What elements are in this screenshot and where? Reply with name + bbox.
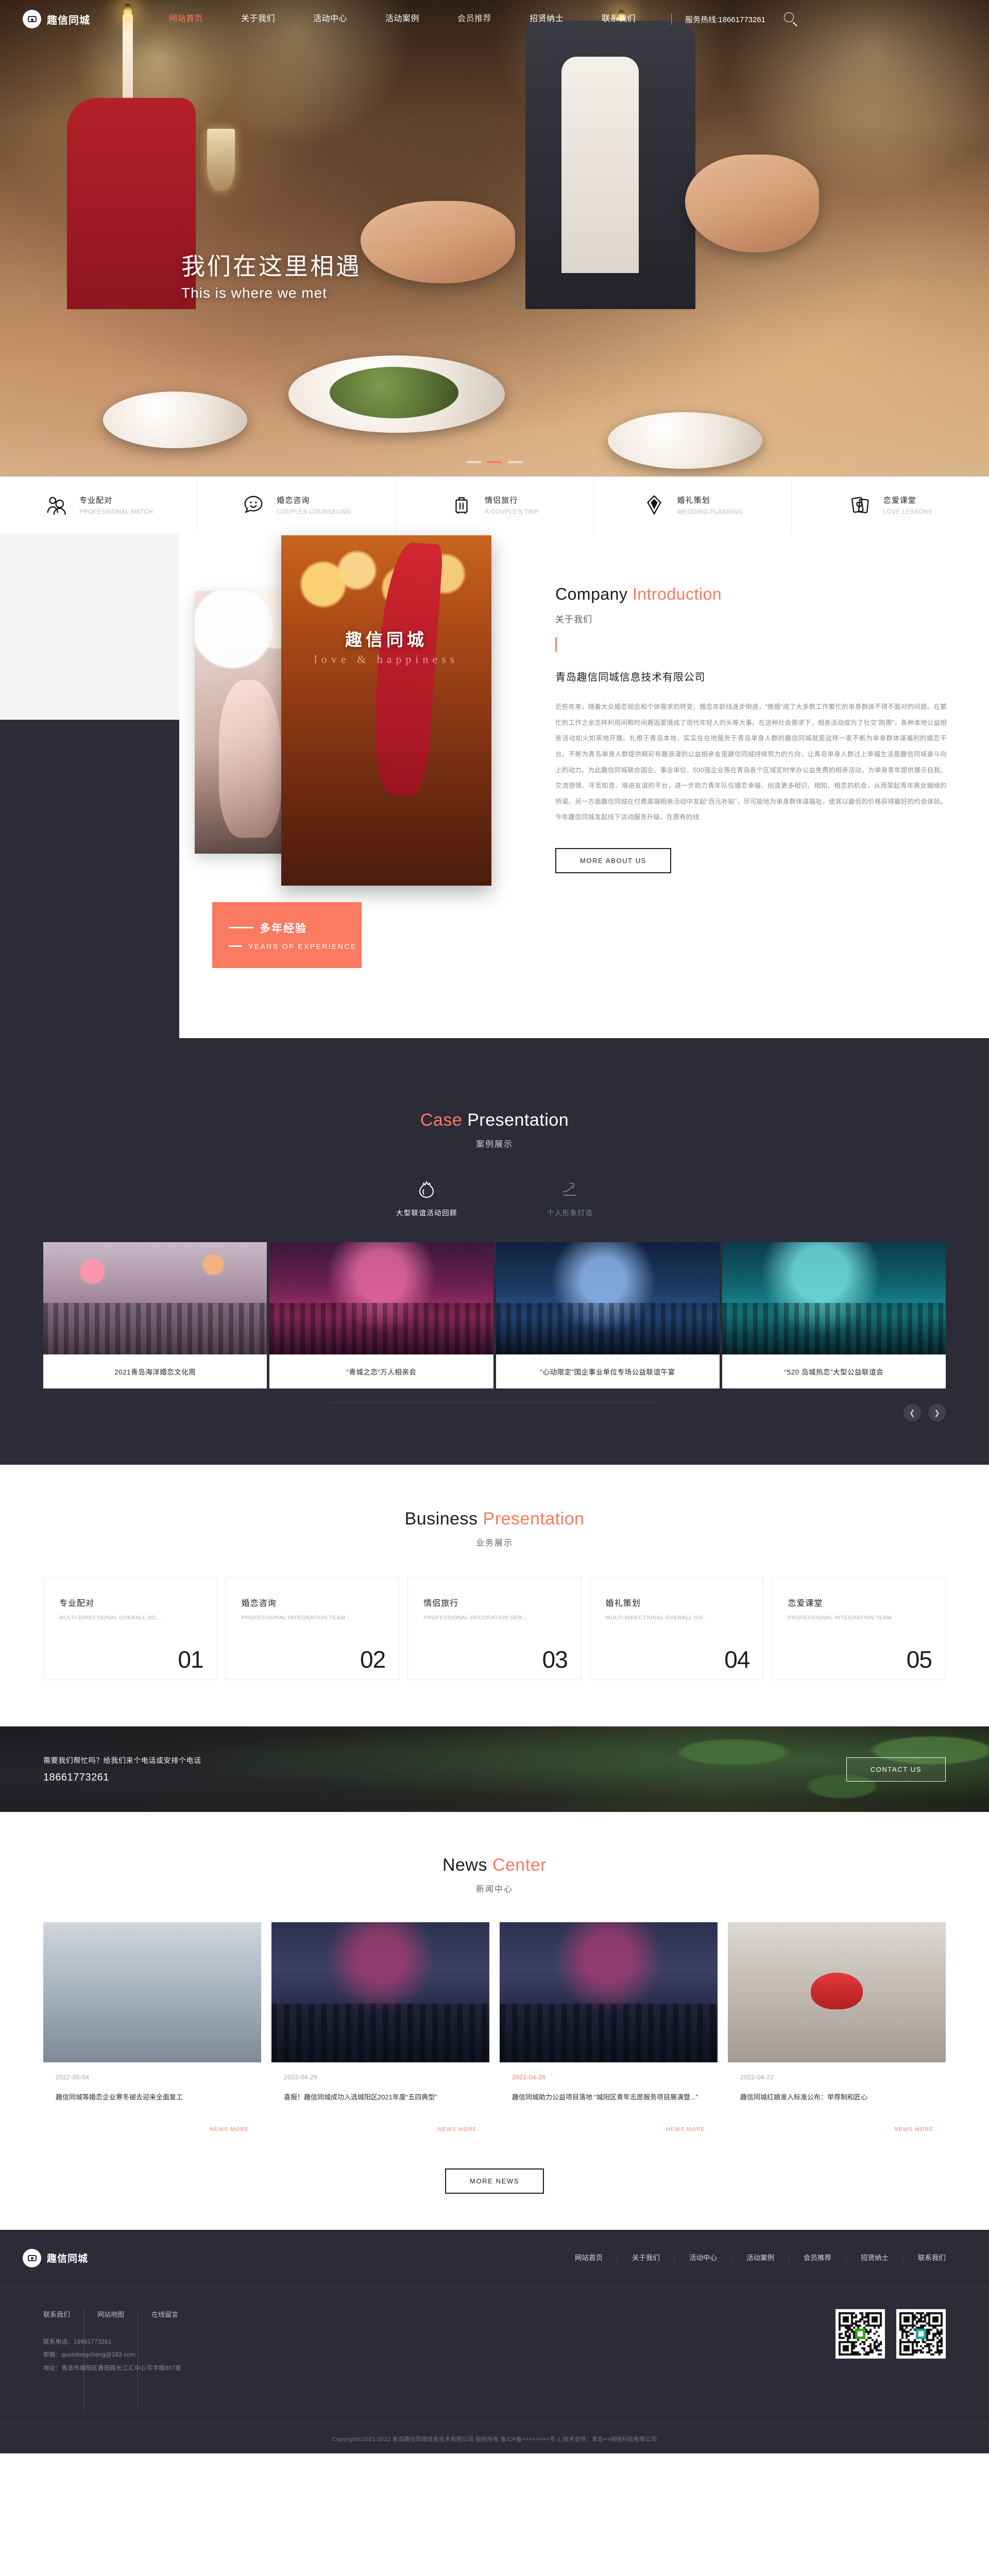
- about-company-name: 青岛趣信同城信息技术有限公司: [555, 669, 947, 684]
- business-card-title: 恋爱课堂: [788, 1596, 930, 1608]
- footer-nav: 网站首页 关于我们 活动中心 活动案例 会员推荐 招贤纳士 联系我们: [560, 2254, 946, 2262]
- news-card[interactable]: 2022-05-04 趣信同城等婚恋企业寒冬褪去迎来全面复工 NEWS MORE: [43, 1922, 261, 2142]
- news-card[interactable]: 2022-04-26 趣信同城助力公益项目落地 “城阳区青年志愿服务项目展演暨.…: [500, 1922, 718, 2142]
- case-presentation-section: Case Presentation 案例展示 大型联谊活动回顾: [0, 1067, 989, 1465]
- news-title: 趣信同城助力公益项目落地 “城阳区青年志愿服务项目展演暨...”: [512, 2091, 705, 2117]
- news-thumbnail: [728, 1922, 946, 2062]
- food-decor: [330, 367, 458, 418]
- nav-item-cases[interactable]: 活动案例: [366, 0, 438, 38]
- plate-decor-3: [103, 392, 247, 448]
- news-thumbnail: [271, 1922, 489, 2062]
- footer-nav-careers[interactable]: 招贤纳士: [846, 2254, 903, 2262]
- case-tabs: 大型联谊活动回顾 个人形象打造: [0, 1172, 989, 1217]
- growth-arrow-icon: [560, 1179, 581, 1200]
- footer-copyright-bar: Copyright©2021-2022 青岛趣信同城信息技术有限公司 版权所有 …: [0, 2424, 989, 2453]
- about-heading-en-b: Introduction: [633, 585, 722, 603]
- service-label-en: COUPLES COUNSELING: [277, 509, 351, 515]
- case-card[interactable]: “520 岛城热恋”大型公益联谊会: [722, 1242, 946, 1388]
- about-photo-sunset: 趣信同城 love & happiness: [281, 535, 491, 886]
- about-body-text: 近些年来，随着大众婚恋观念和个体需求的转变，婚恋年龄线逐步倒退，“晚婚”成了大多…: [555, 699, 947, 825]
- news-card[interactable]: 2022-04-29 喜报！趣信同城成功入选城阳区2021年度“五四典型” NE…: [271, 1922, 489, 2142]
- case-tab-label: 大型联谊活动回顾: [396, 1207, 457, 1217]
- news-card[interactable]: 2022-04-22 趣信同城红娘准入标准公布：举荐制和匠心 NEWS MORE: [728, 1922, 946, 2142]
- news-title: 趣信同城等婚恋企业寒冬褪去迎来全面复工: [56, 2091, 249, 2117]
- news-heading: News Center 新闻中心: [0, 1855, 989, 1894]
- nav-item-members[interactable]: 会员推荐: [438, 0, 510, 38]
- service-label-cn: 婚恋咨询: [277, 495, 351, 505]
- news-heading-cn: 新闻中心: [0, 1882, 989, 1894]
- business-card[interactable]: 婚礼策划 MULTI-DIRECTIONAL OVERALL SO... 04: [590, 1577, 764, 1680]
- nav-item-activity-center[interactable]: 活动中心: [294, 0, 366, 38]
- hotline-text: 服务热线:18661773261: [685, 14, 765, 25]
- hero-dot-1[interactable]: [467, 461, 481, 463]
- person-dress-decor: [67, 98, 196, 309]
- business-card-number: 02: [360, 1646, 385, 1673]
- news-date: 2022-04-26: [512, 2074, 705, 2081]
- service-highlights-bar: 专业配对 PROFESSIONAL MATCH 婚恋咨询 COUPLES COU…: [0, 477, 989, 533]
- love-cards-icon: [848, 493, 872, 517]
- badge-label-cn: 多年经验: [260, 920, 307, 936]
- about-photo-figure-decor: [369, 540, 444, 796]
- news-card-grid: 2022-05-04 趣信同城等婚恋企业寒冬褪去迎来全面复工 NEWS MORE…: [0, 1922, 989, 2142]
- business-card-title: 婚礼策划: [606, 1596, 748, 1608]
- header-divider: [671, 13, 672, 25]
- news-more-link[interactable]: NEWS MORE: [284, 2126, 477, 2142]
- service-label-cn: 婚礼策划: [677, 495, 743, 505]
- page-root: 趣信同城 网站首页 关于我们 活动中心 活动案例 会员推荐 招贤纳士 联系我们 …: [0, 0, 989, 2453]
- case-card[interactable]: 2021青岛海洋婚恋文化周: [43, 1242, 267, 1388]
- footer-contact-info: 联系电话：18661773261 邮箱：quxintongcheng@163.c…: [43, 2336, 181, 2375]
- cases-heading-cn: 案例展示: [0, 1137, 989, 1149]
- business-card-title: 专业配对: [59, 1596, 201, 1608]
- business-card-subtitle: PROFESSIONAL INTEGRATION TEAM: [788, 1615, 930, 1621]
- about-photo-overlay-cn: 趣信同城: [281, 626, 491, 651]
- footer-qr-codes: [835, 2309, 946, 2410]
- news-date: 2022-05-04: [56, 2074, 249, 2081]
- case-card[interactable]: “青城之恋”万人相亲会: [269, 1242, 493, 1388]
- camera-lens-icon: [23, 10, 41, 28]
- site-logo[interactable]: 趣信同城: [23, 10, 90, 28]
- footer-nav-cases[interactable]: 活动案例: [732, 2254, 789, 2262]
- diamond-icon: [642, 493, 666, 517]
- business-card-number: 03: [542, 1646, 568, 1673]
- business-heading-cn: 业务展示: [0, 1536, 989, 1548]
- footer-nav-members[interactable]: 会员推荐: [789, 2254, 846, 2262]
- about-accent-rule: [555, 637, 557, 652]
- hero-banner: 趣信同城 网站首页 关于我们 活动中心 活动案例 会员推荐 招贤纳士 联系我们 …: [0, 0, 989, 477]
- suitcase-icon: [450, 493, 473, 517]
- footer-address: 地址：青岛市城阳区春阳路长江汇中心写字楼807室: [43, 2362, 181, 2375]
- cta-phone: 18661773261: [43, 1772, 201, 1784]
- news-date: 2022-04-29: [284, 2074, 477, 2081]
- service-label-cn: 情侣旅行: [485, 495, 539, 505]
- business-card[interactable]: 恋爱课堂 PROFESSIONAL INTEGRATION TEAM 05: [772, 1577, 946, 1680]
- service-item-wedding-planning[interactable]: 婚礼策划 WEDDING PLANNING: [594, 477, 792, 533]
- about-heading-en: Company Introduction: [555, 585, 947, 604]
- business-heading-en-b: Presentation: [483, 1509, 585, 1529]
- footer-logo[interactable]: 趣信同城: [23, 2249, 88, 2267]
- header-hotline: 服务热线:18661773261: [671, 13, 765, 25]
- business-card[interactable]: 情侣旅行 PROFESSIONAL DECORATION SER... 03: [407, 1577, 582, 1680]
- business-card-subtitle: MULTI-DIRECTIONAL OVERALL SO...: [606, 1615, 748, 1621]
- footer-nav-home[interactable]: 网站首页: [560, 2254, 618, 2262]
- news-center-section: News Center 新闻中心 2022-05-04 趣信同城等婚恋企业寒冬褪…: [0, 1812, 989, 2230]
- cta-line: 需要我们帮忙吗？给我们来个电话或安排个电话: [43, 1755, 201, 1766]
- case-thumbnail: [722, 1242, 946, 1354]
- business-presentation-section: Business Presentation 业务展示 专业配对 MULTI-DI…: [0, 1465, 989, 1726]
- about-heading-cn: 关于我们: [555, 612, 947, 625]
- case-title: “青城之恋”万人相亲会: [269, 1354, 493, 1388]
- business-card[interactable]: 婚恋咨询 PROFESSIONAL INTEGRATION TEAM 02: [226, 1577, 400, 1680]
- hero-dot-3[interactable]: [508, 461, 522, 463]
- case-card-grid: 2021青岛海洋婚恋文化周 “青城之恋”万人相亲会 “心动限定”国企事业单位专场…: [0, 1242, 989, 1388]
- case-thumbnail: [496, 1242, 720, 1354]
- case-title: “520 岛城热恋”大型公益联谊会: [722, 1354, 946, 1388]
- case-carousel-nav: ❮ ❯: [0, 1388, 989, 1421]
- footer-nav-activity[interactable]: 活动中心: [675, 2254, 732, 2262]
- case-thumbnail: [43, 1242, 267, 1354]
- footer-nav-about[interactable]: 关于我们: [618, 2254, 675, 2262]
- chevron-right-icon[interactable]: ❯: [928, 1404, 946, 1421]
- cases-heading-en-b: Presentation: [467, 1110, 569, 1130]
- case-card[interactable]: “心动限定”国企事业单位专场公益联谊午宴: [496, 1242, 720, 1388]
- more-about-us-button[interactable]: MORE ABOUT US: [555, 848, 671, 873]
- news-more-wrap: MORE NEWS: [0, 2168, 989, 2194]
- cases-heading: Case Presentation 案例展示: [0, 1110, 989, 1149]
- business-card[interactable]: 专业配对 MULTI-DIRECTIONAL OVERALL SO... 01: [43, 1577, 217, 1680]
- qr-code-wechat: [835, 2309, 885, 2359]
- site-header: 趣信同城 网站首页 关于我们 活动中心 活动案例 会员推荐 招贤纳士 联系我们 …: [0, 0, 989, 38]
- business-card-title: 婚恋咨询: [242, 1596, 384, 1608]
- service-item-couples-counseling[interactable]: 婚恋咨询 COUPLES COUNSELING: [198, 477, 396, 533]
- footer-brand-name: 趣信同城: [47, 2251, 88, 2265]
- business-card-number: 01: [178, 1646, 203, 1673]
- wine-glass-decor: [207, 129, 235, 191]
- years-of-experience-badge: 多年经验 YEARS OF EXPERIENCE: [212, 902, 362, 968]
- footer-middle: 联系我们 网站地图 在线留言 联系电话：18661773261 邮箱：quxin…: [0, 2286, 989, 2410]
- about-copy: Company Introduction 关于我们 青岛趣信同城信息技术有限公司…: [555, 585, 947, 873]
- news-heading-en-b: Center: [492, 1855, 547, 1875]
- service-label-en: WEDDING PLANNING: [677, 509, 743, 515]
- case-tab-label: 个人形象打造: [547, 1207, 593, 1217]
- about-heading-en-a: Company: [555, 585, 627, 603]
- two-people-icon: [44, 493, 68, 517]
- more-news-button[interactable]: MORE NEWS: [445, 2168, 544, 2194]
- flame-icon: [416, 1179, 437, 1200]
- plate-decor-2: [608, 412, 762, 469]
- nav-item-home[interactable]: 网站首页: [150, 0, 222, 38]
- news-thumbnail: [500, 1922, 718, 2062]
- news-more-link[interactable]: NEWS MORE: [740, 2126, 933, 2142]
- hero-title-en: This is where we met: [181, 285, 362, 301]
- footer-email: 邮箱：quxintongcheng@163.com: [43, 2349, 181, 2362]
- hero-title-cn: 我们在这里相遇: [181, 252, 362, 282]
- business-heading-en-a: Business: [405, 1509, 478, 1529]
- news-title: 趣信同城红娘准入标准公布：举荐制和匠心: [740, 2091, 933, 2117]
- cta-text: 需要我们帮忙吗？给我们来个电话或安排个电话 18661773261: [43, 1755, 201, 1784]
- business-card-grid: 专业配对 MULTI-DIRECTIONAL OVERALL SO... 01 …: [0, 1577, 989, 1680]
- service-item-love-lessons[interactable]: 恋爱课堂 LOVE LESSONS: [792, 477, 989, 533]
- case-title: “心动限定”国企事业单位专场公益联谊午宴: [496, 1354, 720, 1388]
- hero-slider-dots: [0, 461, 989, 463]
- hero-dot-2[interactable]: [487, 461, 502, 463]
- business-card-number: 05: [907, 1646, 932, 1673]
- service-item-professional-match[interactable]: 专业配对 PROFESSIONAL MATCH: [0, 477, 198, 533]
- person-shirt-decor: [561, 57, 639, 273]
- nav-item-careers[interactable]: 招贤纳士: [510, 0, 583, 38]
- nav-item-about[interactable]: 关于我们: [222, 0, 294, 38]
- footer-phone: 联系电话：18661773261: [43, 2336, 181, 2349]
- brand-name: 趣信同城: [47, 12, 90, 27]
- business-card-subtitle: PROFESSIONAL DECORATION SER...: [423, 1615, 566, 1621]
- nav-item-contact[interactable]: 联系我们: [583, 0, 655, 38]
- news-more-link[interactable]: NEWS MORE: [512, 2126, 705, 2142]
- case-tab-personal-image[interactable]: 个人形象打造: [547, 1172, 593, 1217]
- service-label-en: A COUPLE'S TRIP: [485, 509, 539, 515]
- footer-top: 趣信同城 网站首页 关于我们 活动中心 活动案例 会员推荐 招贤纳士 联系我们: [0, 2230, 989, 2286]
- business-card-title: 情侣旅行: [423, 1596, 566, 1608]
- about-section: 趣信同城 love & happiness 多年经验 YEARS OF EXPE…: [0, 533, 989, 1067]
- news-heading-en-a: News: [442, 1855, 487, 1875]
- camera-lens-icon: [23, 2249, 41, 2267]
- business-card-subtitle: MULTI-DIRECTIONAL OVERALL SO...: [59, 1615, 201, 1621]
- business-heading: Business Presentation 业务展示: [0, 1509, 989, 1548]
- case-title: 2021青岛海洋婚恋文化周: [43, 1354, 267, 1388]
- news-thumbnail: [43, 1922, 261, 2062]
- chevron-left-icon[interactable]: ❮: [903, 1404, 921, 1421]
- chat-smile-icon: [242, 493, 265, 517]
- service-label-cn: 恋爱课堂: [883, 495, 932, 505]
- qr-code-douyin: [896, 2309, 946, 2359]
- service-label-en: PROFESSIONAL MATCH: [79, 509, 153, 515]
- contact-us-button[interactable]: CONTACT US: [846, 1757, 946, 1782]
- cases-heading-en-a: Case: [420, 1110, 462, 1130]
- copyright-text: Copyright©2021-2022 青岛趣信同城信息技术有限公司 版权所有 …: [332, 2435, 657, 2443]
- search-icon[interactable]: [783, 11, 798, 27]
- case-thumbnail: [269, 1242, 493, 1354]
- badge-label-en: YEARS OF EXPERIENCE: [248, 942, 357, 951]
- news-title: 喜报！趣信同城成功入选城阳区2021年度“五四典型”: [284, 2091, 477, 2117]
- hero-caption: 我们在这里相遇 This is where we met: [181, 252, 362, 301]
- news-more-link[interactable]: NEWS MORE: [56, 2126, 249, 2142]
- news-date: 2022-04-22: [740, 2074, 933, 2081]
- site-footer: 趣信同城 网站首页 关于我们 活动中心 活动案例 会员推荐 招贤纳士 联系我们 …: [0, 2230, 989, 2453]
- service-label-cn: 专业配对: [79, 495, 153, 505]
- business-card-subtitle: PROFESSIONAL INTEGRATION TEAM: [242, 1615, 384, 1621]
- case-divider: [330, 1402, 659, 1403]
- footer-nav-contact[interactable]: 联系我们: [903, 2254, 946, 2262]
- business-card-number: 04: [724, 1646, 749, 1673]
- case-tab-large-events[interactable]: 大型联谊活动回顾: [396, 1172, 457, 1217]
- service-label-en: LOVE LESSONS: [883, 509, 932, 515]
- service-item-couples-trip[interactable]: 情侣旅行 A COUPLE'S TRIP: [396, 477, 593, 533]
- primary-nav: 网站首页 关于我们 活动中心 活动案例 会员推荐 招贤纳士 联系我们: [150, 0, 655, 38]
- contact-cta-banner: 需要我们帮忙吗？给我们来个电话或安排个电话 18661773261 CONTAC…: [0, 1726, 989, 1812]
- about-photo-collage: 趣信同城 love & happiness 多年经验 YEARS OF EXPE…: [195, 591, 535, 1003]
- about-photo-overlay-en: love & happiness: [281, 653, 491, 666]
